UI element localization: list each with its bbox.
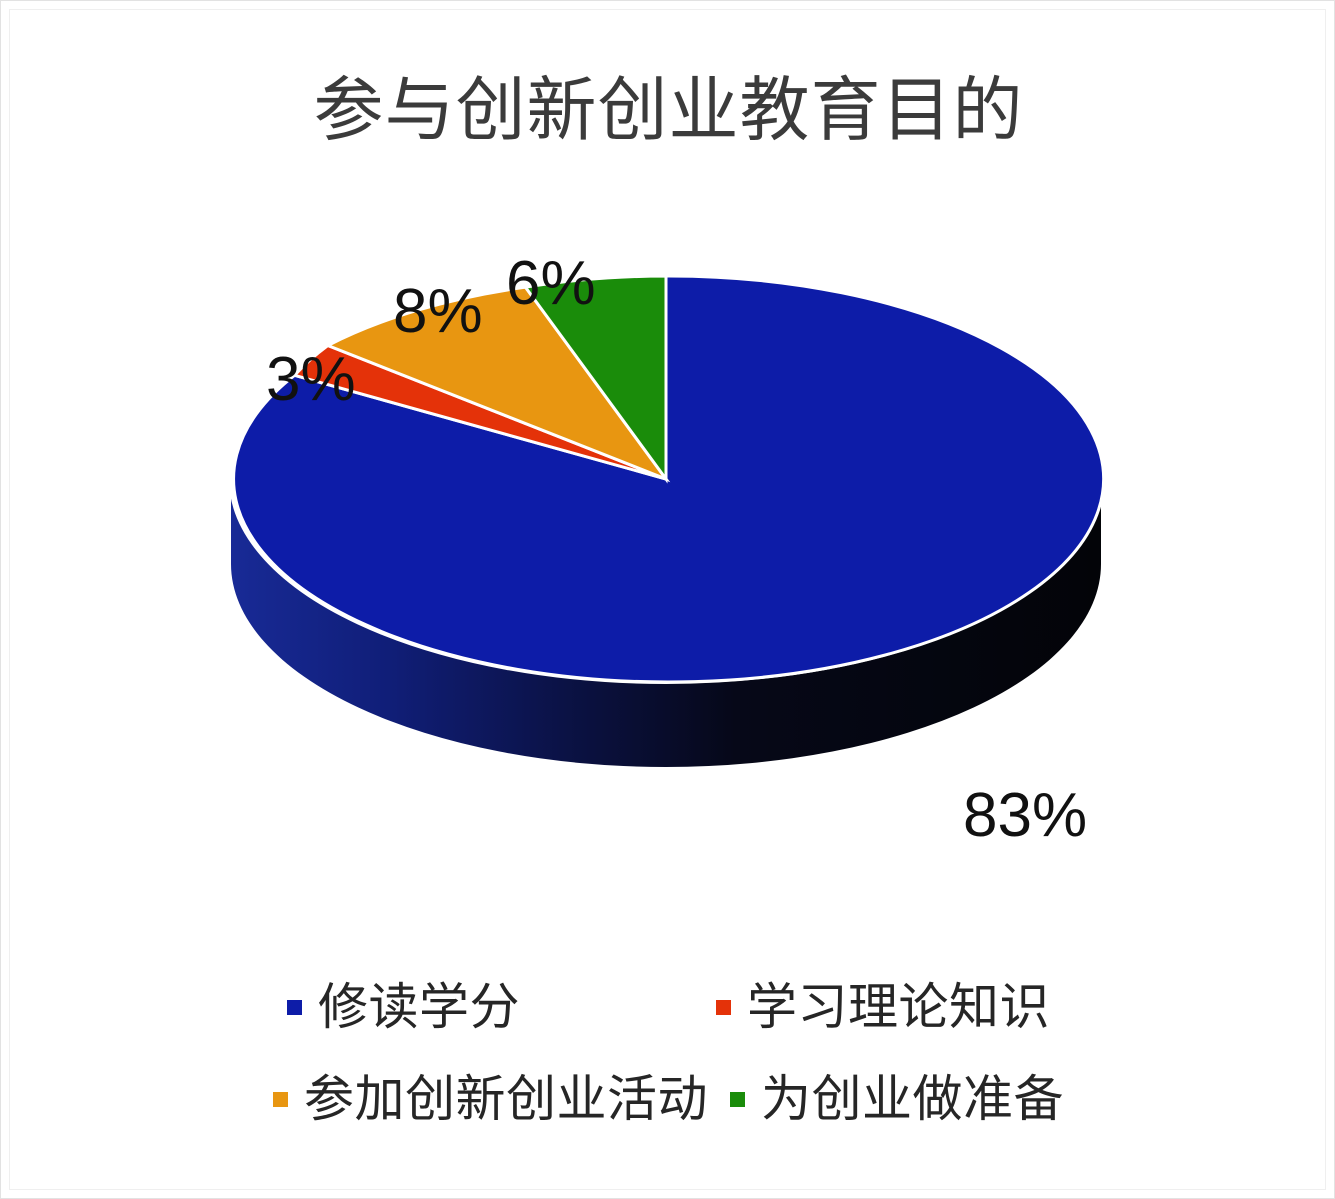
chart-page: 参与创新创业教育目的 bbox=[0, 0, 1335, 1199]
legend-row: 参加创新创业活动 为创业做准备 bbox=[1, 1053, 1335, 1145]
legend-swatch-icon bbox=[716, 1000, 731, 1015]
legend-swatch-icon bbox=[273, 1092, 288, 1107]
pie-chart-svg bbox=[1, 181, 1335, 881]
legend-row: 修读学分 学习理论知识 bbox=[1, 961, 1335, 1053]
data-label-xuexi-lilun-zhishi: 3% bbox=[266, 349, 356, 411]
legend-item-wei-chuangye-zuozhunbei[interactable]: 为创业做准备 bbox=[730, 1071, 1064, 1127]
data-label-canjia-chuangxin-huodong: 8% bbox=[393, 281, 483, 343]
legend-label: 参加创新创业活动 bbox=[304, 1071, 708, 1127]
data-label-xiudu-xuefen: 83% bbox=[963, 785, 1087, 847]
chart-legend: 修读学分 学习理论知识 参加创新创业活动 为创业做准备 bbox=[1, 961, 1335, 1145]
legend-swatch-icon bbox=[287, 1000, 302, 1015]
legend-item-xiudu-xuefen[interactable]: 修读学分 bbox=[287, 979, 520, 1035]
legend-label: 修读学分 bbox=[318, 979, 520, 1035]
legend-item-canjia-chuangxin-huodong[interactable]: 参加创新创业活动 bbox=[273, 1071, 708, 1127]
data-label-wei-chuangye-zuozhunbei: 6% bbox=[506, 253, 596, 315]
pie-slices bbox=[234, 276, 1104, 682]
legend-label: 为创业做准备 bbox=[761, 1071, 1064, 1127]
legend-item-xuexi-lilun-zhishi[interactable]: 学习理论知识 bbox=[716, 979, 1050, 1035]
legend-label: 学习理论知识 bbox=[747, 979, 1050, 1035]
legend-swatch-icon bbox=[730, 1092, 745, 1107]
pie-chart: 6% 8% 3% 83% bbox=[1, 181, 1335, 881]
page-title: 参与创新创业教育目的 bbox=[1, 67, 1335, 153]
